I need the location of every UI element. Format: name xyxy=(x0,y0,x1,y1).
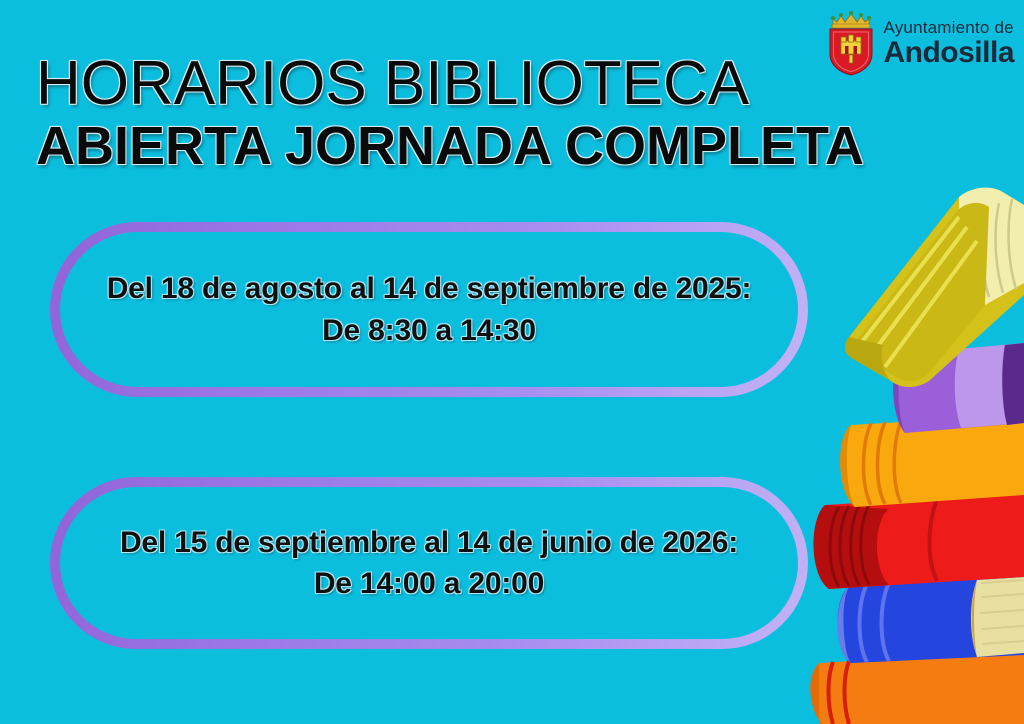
schedule-summer-hours: De 8:30 a 14:30 xyxy=(322,310,536,351)
schedule-summer-period: Del 18 de agosto al 14 de septiembre de … xyxy=(107,268,752,309)
logo-line-2: Andosilla xyxy=(883,38,1014,68)
schedule-card-summer-inner: Del 18 de agosto al 14 de septiembre de … xyxy=(60,232,798,387)
logo-line-1: Ayuntamiento de xyxy=(883,19,1014,36)
schedule-winter-period: Del 15 de septiembre al 14 de junio de 2… xyxy=(120,522,738,563)
title-line-1: HORARIOS BIBLIOTECA xyxy=(36,52,876,115)
schedule-card-winter-inner: Del 15 de septiembre al 14 de junio de 2… xyxy=(60,487,798,639)
logo-text-block: Ayuntamiento de Andosilla xyxy=(883,19,1014,68)
poster-canvas: Ayuntamiento de Andosilla HORARIOS BIBLI… xyxy=(0,0,1024,724)
schedule-winter-hours: De 14:00 a 20:00 xyxy=(314,563,544,604)
book-blue xyxy=(837,577,1024,663)
book-stack-illustration xyxy=(809,185,1024,724)
schedule-card-summer: Del 18 de agosto al 14 de septiembre de … xyxy=(50,222,808,397)
schedule-card-winter: Del 15 de septiembre al 14 de junio de 2… xyxy=(50,477,808,649)
book-orange-bottom xyxy=(810,651,1024,724)
poster-title-block: HORARIOS BIBLIOTECA ABIERTA JORNADA COMP… xyxy=(36,52,876,174)
book-red xyxy=(813,493,1024,589)
title-line-2: ABIERTA JORNADA COMPLETA xyxy=(36,119,876,174)
